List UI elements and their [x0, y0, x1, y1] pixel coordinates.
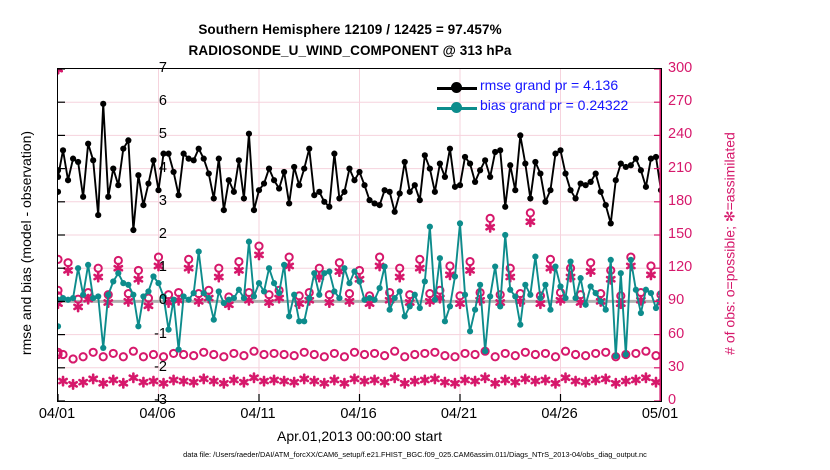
y-tick-left: 7 — [127, 60, 167, 76]
x-tick: 04/11 — [223, 406, 293, 422]
legend-item[interactable]: bias grand pr = 0.24322 — [435, 98, 665, 117]
x-tick: 04/21 — [424, 406, 494, 422]
y-axis-right-label: # of obs: o=possible; ✻=assimilated — [722, 74, 739, 414]
chart-title-line2: RADIOSONDE_U_WIND_COMPONENT @ 313 hPa — [0, 43, 700, 58]
y-tick-left: 6 — [127, 93, 167, 109]
y-tick-right: 180 — [668, 193, 714, 209]
chart-title-line1: Southern Hemisphere 12109 / 12425 = 97.4… — [0, 22, 700, 37]
y-tick-right: 90 — [668, 292, 714, 308]
y-tick-right: 60 — [668, 326, 714, 342]
x-axis-label: Apr.01,2013 00:00:00 start — [57, 428, 662, 444]
y-tick-left: 0 — [127, 292, 167, 308]
y-tick-right: 270 — [668, 93, 714, 109]
y-axis-left-label: rmse and bias (model - observation) — [18, 78, 34, 408]
y-tick-left: 5 — [127, 126, 167, 142]
x-tick: 05/01 — [625, 406, 695, 422]
y-tick-left: 2 — [127, 226, 167, 242]
y-tick-right: 30 — [668, 359, 714, 375]
y-tick-right: 240 — [668, 126, 714, 142]
y-tick-left: 4 — [127, 160, 167, 176]
x-tick: 04/01 — [22, 406, 92, 422]
y-tick-right: 120 — [668, 259, 714, 275]
y-tick-left: 3 — [127, 193, 167, 209]
legend-marker-icon — [451, 102, 462, 113]
legend-marker-icon — [451, 82, 462, 93]
y-tick-left: -1 — [127, 326, 167, 342]
legend-label: bias grand pr = 0.24322 — [480, 97, 628, 113]
y-tick-right: 210 — [668, 160, 714, 176]
x-tick: 04/26 — [525, 406, 595, 422]
legend-label: rmse grand pr = 4.136 — [480, 77, 618, 93]
y-tick-left: 1 — [127, 259, 167, 275]
chart-legend: rmse grand pr = 4.136bias grand pr = 0.2… — [435, 78, 665, 118]
y-tick-right: 150 — [668, 226, 714, 242]
legend-item[interactable]: rmse grand pr = 4.136 — [435, 78, 665, 97]
y-tick-left: -2 — [127, 359, 167, 375]
data-file-footer: data file: /Users/raeder/DAI/ATM_forcXX/… — [0, 450, 830, 459]
x-tick: 04/16 — [324, 406, 394, 422]
figure-canvas: Southern Hemisphere 12109 / 12425 = 97.4… — [0, 0, 830, 470]
y-tick-right: 300 — [668, 60, 714, 76]
x-tick: 04/06 — [123, 406, 193, 422]
